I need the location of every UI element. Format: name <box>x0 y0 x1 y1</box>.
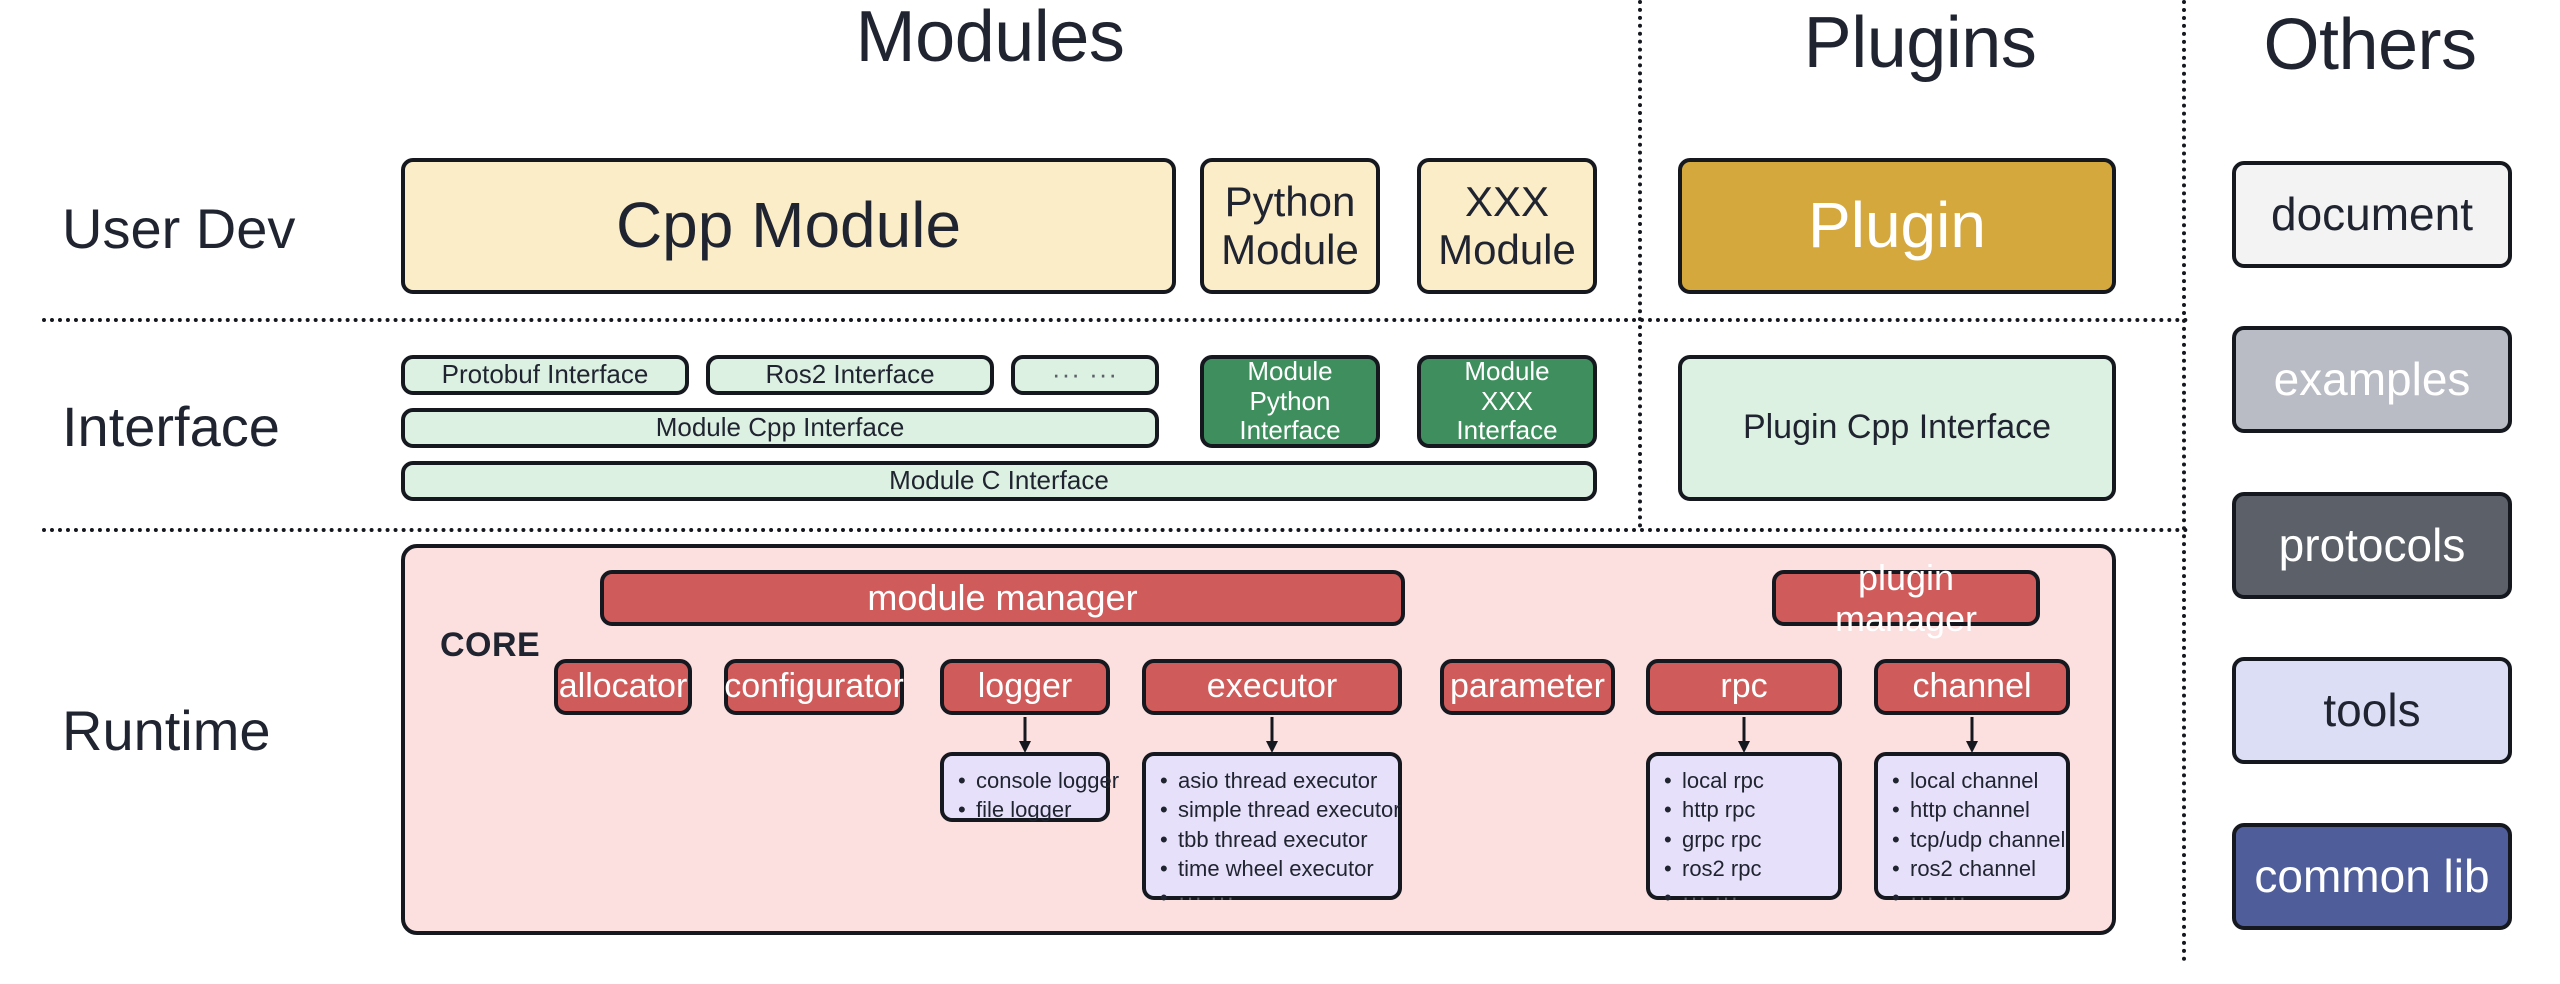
box-cpp-module[interactable]: Cpp Module <box>401 158 1176 294</box>
box-plugin-manager[interactable]: plugin manager <box>1772 570 2040 626</box>
box-others-document-label: document <box>2271 188 2473 241</box>
channel-details-items: •local channel •http channel •tcp/udp ch… <box>1892 766 2054 912</box>
box-plugin-cpp-interface-label: Plugin Cpp Interface <box>1743 408 2051 447</box>
list-item: •tbb thread executor <box>1160 825 1386 854</box>
box-others-examples[interactable]: examples <box>2232 326 2512 433</box>
list-item: •console logger <box>958 766 1094 795</box>
divider-user-dev-interface <box>42 318 2190 322</box>
list-item: •··· ··· <box>1160 883 1386 912</box>
box-logger[interactable]: logger <box>940 659 1110 715</box>
box-channel-label: channel <box>1912 667 2031 706</box>
divider-modules-plugins <box>1638 0 1642 528</box>
box-module-cpp-interface-label: Module Cpp Interface <box>656 413 905 443</box>
list-item: •time wheel executor <box>1160 854 1386 883</box>
bullet-icon: • <box>1664 883 1682 912</box>
list-item: •ros2 channel <box>1892 854 2054 883</box>
executor-details-items: •asio thread executor •simple thread exe… <box>1160 766 1386 912</box>
column-title-modules: Modules <box>790 0 1190 78</box>
bullet-icon: • <box>1892 883 1910 912</box>
list-item: •tcp/udp channel <box>1892 825 2054 854</box>
box-python-module-label-line1: Python <box>1225 178 1356 226</box>
list-rpc-details: •local rpc •http rpc •grpc rpc •ros2 rpc… <box>1646 752 1842 900</box>
architecture-diagram: Modules Plugins Others User Dev Interfac… <box>0 0 2560 984</box>
box-allocator-label: allocator <box>559 667 688 706</box>
bullet-icon: • <box>1160 766 1178 795</box>
arrow-executor-to-details <box>1257 715 1287 755</box>
logger-details-items: •console logger •file logger <box>958 766 1094 825</box>
arrow-logger-to-details <box>1010 715 1040 755</box>
box-parameter[interactable]: parameter <box>1440 659 1615 715</box>
row-label-runtime: Runtime <box>62 698 271 763</box>
box-xxx-module[interactable]: XXX Module <box>1417 158 1597 294</box>
box-plugin-manager-label: plugin manager <box>1784 557 2028 640</box>
bullet-icon: • <box>1664 795 1682 824</box>
box-others-tools-label: tools <box>2323 684 2420 737</box>
arrow-channel-to-details <box>1957 715 1987 755</box>
box-parameter-label: parameter <box>1450 667 1605 706</box>
bullet-icon: • <box>1160 795 1178 824</box>
box-others-tools[interactable]: tools <box>2232 657 2512 764</box>
box-module-xxx-interface[interactable]: Module XXX Interface <box>1417 355 1597 448</box>
bullet-icon: • <box>1892 825 1910 854</box>
list-item: •simple thread executor <box>1160 795 1386 824</box>
box-others-common-lib[interactable]: common lib <box>2232 823 2512 930</box>
column-title-others: Others <box>2185 4 2555 86</box>
divider-interface-runtime <box>42 528 2190 532</box>
box-module-python-interface-label-line1: Module <box>1247 357 1332 387</box>
list-item: •local channel <box>1892 766 2054 795</box>
box-module-manager[interactable]: module manager <box>600 570 1405 626</box>
list-item: •http rpc <box>1664 795 1826 824</box>
box-others-examples-label: examples <box>2274 353 2471 406</box>
box-module-manager-label: module manager <box>867 577 1137 618</box>
box-python-module[interactable]: Python Module <box>1200 158 1380 294</box>
box-other-interface-label: ··· ··· <box>1052 360 1118 390</box>
box-others-protocols-label: protocols <box>2279 519 2466 572</box>
list-channel-details: •local channel •http channel •tcp/udp ch… <box>1874 752 2070 900</box>
box-allocator[interactable]: allocator <box>554 659 692 715</box>
box-ros2-interface-label: Ros2 Interface <box>765 360 934 390</box>
bullet-icon: • <box>958 795 976 824</box>
box-module-xxx-interface-label-line2: XXX Interface <box>1429 387 1585 447</box>
list-item: •ros2 rpc <box>1664 854 1826 883</box>
bullet-icon: • <box>1892 854 1910 883</box>
bullet-icon: • <box>958 766 976 795</box>
list-item: •grpc rpc <box>1664 825 1826 854</box>
arrow-rpc-to-details <box>1729 715 1759 755</box>
row-label-user-dev: User Dev <box>62 196 295 261</box>
bullet-icon: • <box>1664 766 1682 795</box>
box-others-common-lib-label: common lib <box>2254 850 2489 903</box>
box-others-protocols[interactable]: protocols <box>2232 492 2512 599</box>
box-rpc-label: rpc <box>1720 667 1767 706</box>
list-item: •asio thread executor <box>1160 766 1386 795</box>
bullet-icon: • <box>1664 825 1682 854</box>
box-logger-label: logger <box>978 667 1073 706</box>
box-channel[interactable]: channel <box>1874 659 2070 715</box>
list-item: •file logger <box>958 795 1094 824</box>
box-module-cpp-interface[interactable]: Module Cpp Interface <box>401 408 1159 448</box>
box-xxx-module-label-line1: XXX <box>1465 178 1549 226</box>
box-protobuf-interface-label: Protobuf Interface <box>442 360 649 390</box>
bullet-icon: • <box>1160 854 1178 883</box>
box-module-c-interface-label: Module C Interface <box>889 466 1109 496</box>
box-configurator[interactable]: configurator <box>724 659 904 715</box>
box-cpp-module-label: Cpp Module <box>616 189 961 263</box>
box-executor-label: executor <box>1207 667 1337 706</box>
box-plugin[interactable]: Plugin <box>1678 158 2116 294</box>
list-logger-details: •console logger •file logger <box>940 752 1110 822</box>
box-rpc[interactable]: rpc <box>1646 659 1842 715</box>
list-item: •local rpc <box>1664 766 1826 795</box>
box-configurator-label: configurator <box>724 667 904 706</box>
box-xxx-module-label-line2: Module <box>1438 226 1576 274</box>
column-title-plugins: Plugins <box>1720 2 2120 84</box>
bullet-icon: • <box>1160 883 1178 912</box>
box-plugin-cpp-interface[interactable]: Plugin Cpp Interface <box>1678 355 2116 501</box>
box-other-interface[interactable]: ··· ··· <box>1011 355 1159 395</box>
list-item: •··· ··· <box>1892 883 2054 912</box>
box-others-document[interactable]: document <box>2232 161 2512 268</box>
box-plugin-label: Plugin <box>1808 189 1986 263</box>
bullet-icon: • <box>1892 766 1910 795</box>
bullet-icon: • <box>1664 854 1682 883</box>
box-module-python-interface-label-line2: Python Interface <box>1212 387 1368 447</box>
row-label-interface: Interface <box>62 394 280 459</box>
box-module-xxx-interface-label-line1: Module <box>1464 357 1549 387</box>
divider-plugins-others <box>2182 0 2186 962</box>
box-ros2-interface[interactable]: Ros2 Interface <box>706 355 994 395</box>
rpc-details-items: •local rpc •http rpc •grpc rpc •ros2 rpc… <box>1664 766 1826 912</box>
core-label: CORE <box>440 626 540 665</box>
list-executor-details: •asio thread executor •simple thread exe… <box>1142 752 1402 900</box>
bullet-icon: • <box>1160 825 1178 854</box>
list-item: •http channel <box>1892 795 2054 824</box>
bullet-icon: • <box>1892 795 1910 824</box>
box-module-c-interface[interactable]: Module C Interface <box>401 461 1597 501</box>
box-executor[interactable]: executor <box>1142 659 1402 715</box>
box-protobuf-interface[interactable]: Protobuf Interface <box>401 355 689 395</box>
box-module-python-interface[interactable]: Module Python Interface <box>1200 355 1380 448</box>
box-python-module-label-line2: Module <box>1221 226 1359 274</box>
list-item: •··· ··· <box>1664 883 1826 912</box>
